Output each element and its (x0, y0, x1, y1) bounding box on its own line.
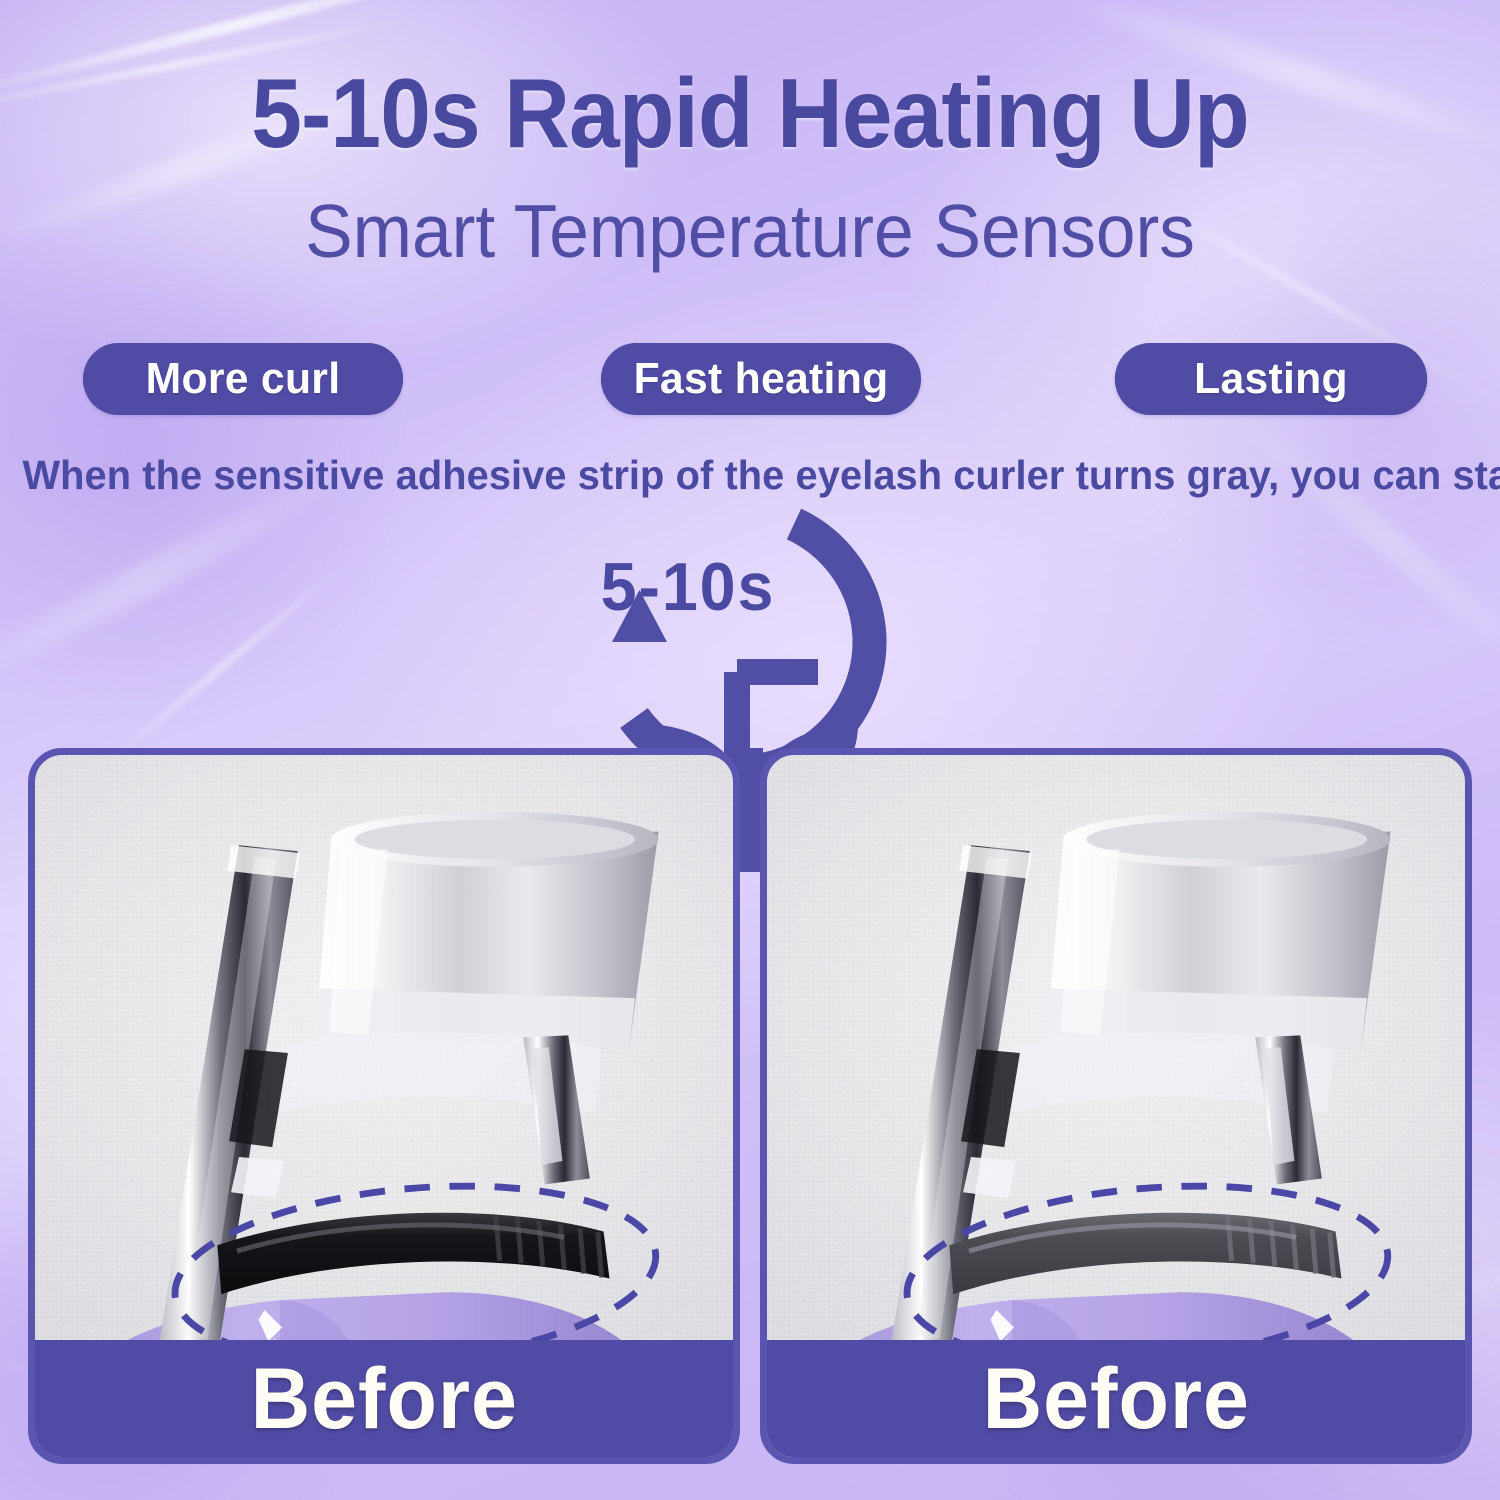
feature-pill-more-curl[interactable]: More curl (83, 343, 403, 415)
panel-caption-left: Before (250, 1350, 517, 1449)
promo-image-stage: 5-10s Rapid Heating Up Smart Temperature… (0, 0, 1500, 1500)
timer-graphic-label: 5-10s (601, 548, 776, 626)
panel-caption-bar-right: Before (766, 1340, 1466, 1458)
panel-caption-bar-left: Before (34, 1340, 734, 1458)
background-wisp (96, 555, 355, 774)
background-wisp (1218, 395, 1500, 674)
feature-pill-label: More curl (146, 354, 341, 404)
comparison-panels: Before (28, 748, 1472, 1464)
feature-pill-label: Lasting (1194, 354, 1348, 404)
page-subtitle: Smart Temperature Sensors (38, 190, 1463, 273)
instruction-note: When the sensitive adhesive strip of the… (23, 452, 1478, 499)
feature-pill-row: More curl Fast heating Lasting (70, 343, 1430, 415)
feature-pill-lasting[interactable]: Lasting (1115, 343, 1427, 415)
page-title: 5-10s Rapid Heating Up (53, 62, 1448, 166)
feature-pill-fast-heating[interactable]: Fast heating (601, 343, 921, 415)
photo-panel-left: Before (28, 748, 740, 1464)
feature-pill-label: Fast heating (634, 354, 889, 404)
photo-panel-right: Before (760, 748, 1472, 1464)
panel-caption-right: Before (982, 1350, 1249, 1449)
